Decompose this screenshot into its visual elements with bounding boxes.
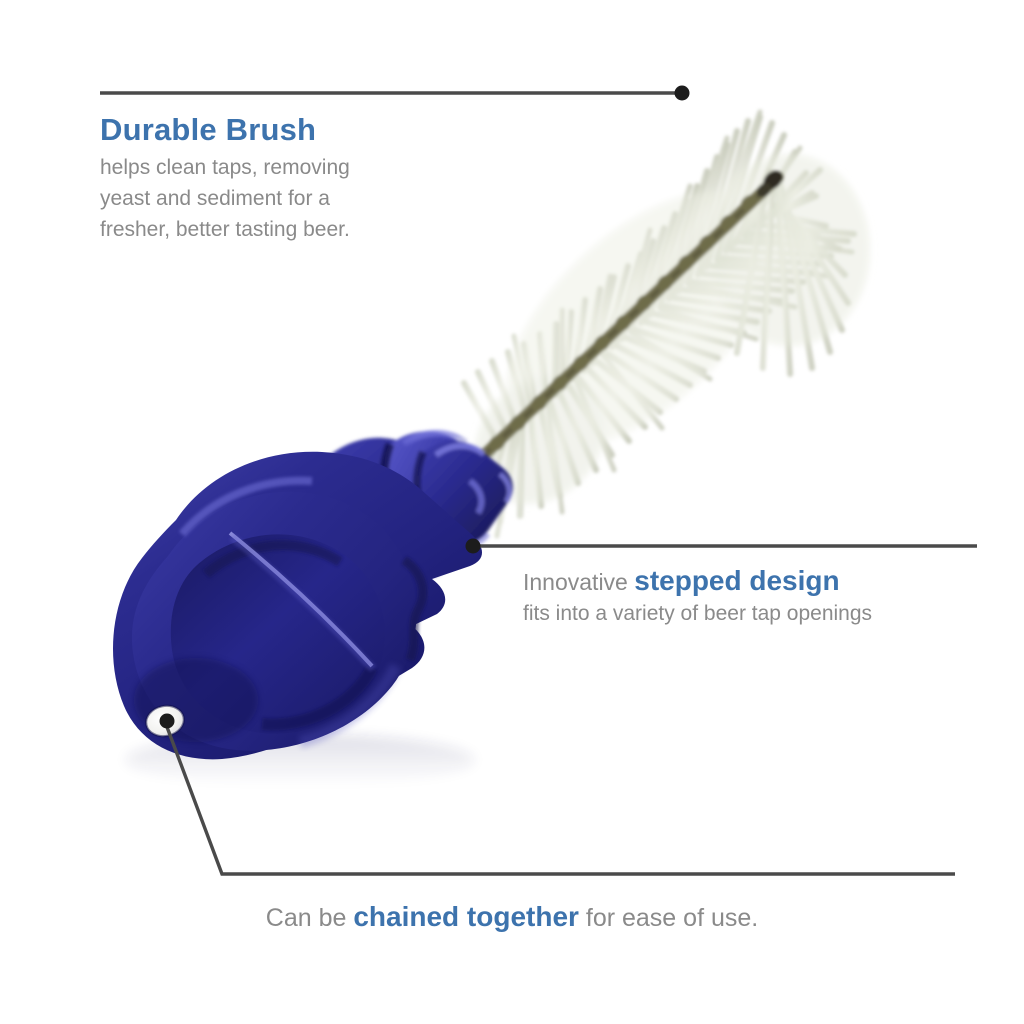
callout-durable-brush-body-line-1: helps clean taps, removing — [100, 152, 460, 183]
plastic-body-group — [113, 431, 513, 786]
leader-dot-durable-brush — [675, 86, 690, 101]
leader-dot-stepped-design — [466, 539, 481, 554]
callout-chained-together-strong: chained together — [353, 901, 579, 932]
callout-chained-together-line-1: Can be chained together for ease of use. — [0, 900, 1024, 935]
callout-durable-brush-body-line-3: fresher, better tasting beer. — [100, 214, 460, 245]
callout-durable-brush: Durable Brush helps clean taps, removing… — [100, 112, 460, 245]
callout-stepped-design-line-2: fits into a variety of beer tap openings — [523, 598, 993, 629]
callout-stepped-design-line-1: Innovative stepped design — [523, 565, 993, 598]
callout-durable-brush-heading: Durable Brush — [100, 112, 460, 148]
callout-chained-together: Can be chained together for ease of use. — [0, 900, 1024, 935]
leader-dot-chained-together — [160, 714, 175, 729]
callout-stepped-design-strong: stepped design — [634, 565, 839, 596]
callout-chained-together-suffix: for ease of use. — [579, 904, 758, 932]
infographic-canvas: Durable Brush helps clean taps, removing… — [0, 0, 1024, 1024]
callout-durable-brush-body: helps clean taps, removing yeast and sed… — [100, 152, 460, 245]
callout-stepped-design: Innovative stepped design fits into a va… — [523, 565, 993, 629]
callout-chained-together-prefix: Can be — [266, 904, 354, 932]
callout-durable-brush-body-line-2: yeast and sediment for a — [100, 183, 460, 214]
callout-stepped-design-prefix: Innovative — [523, 569, 634, 595]
